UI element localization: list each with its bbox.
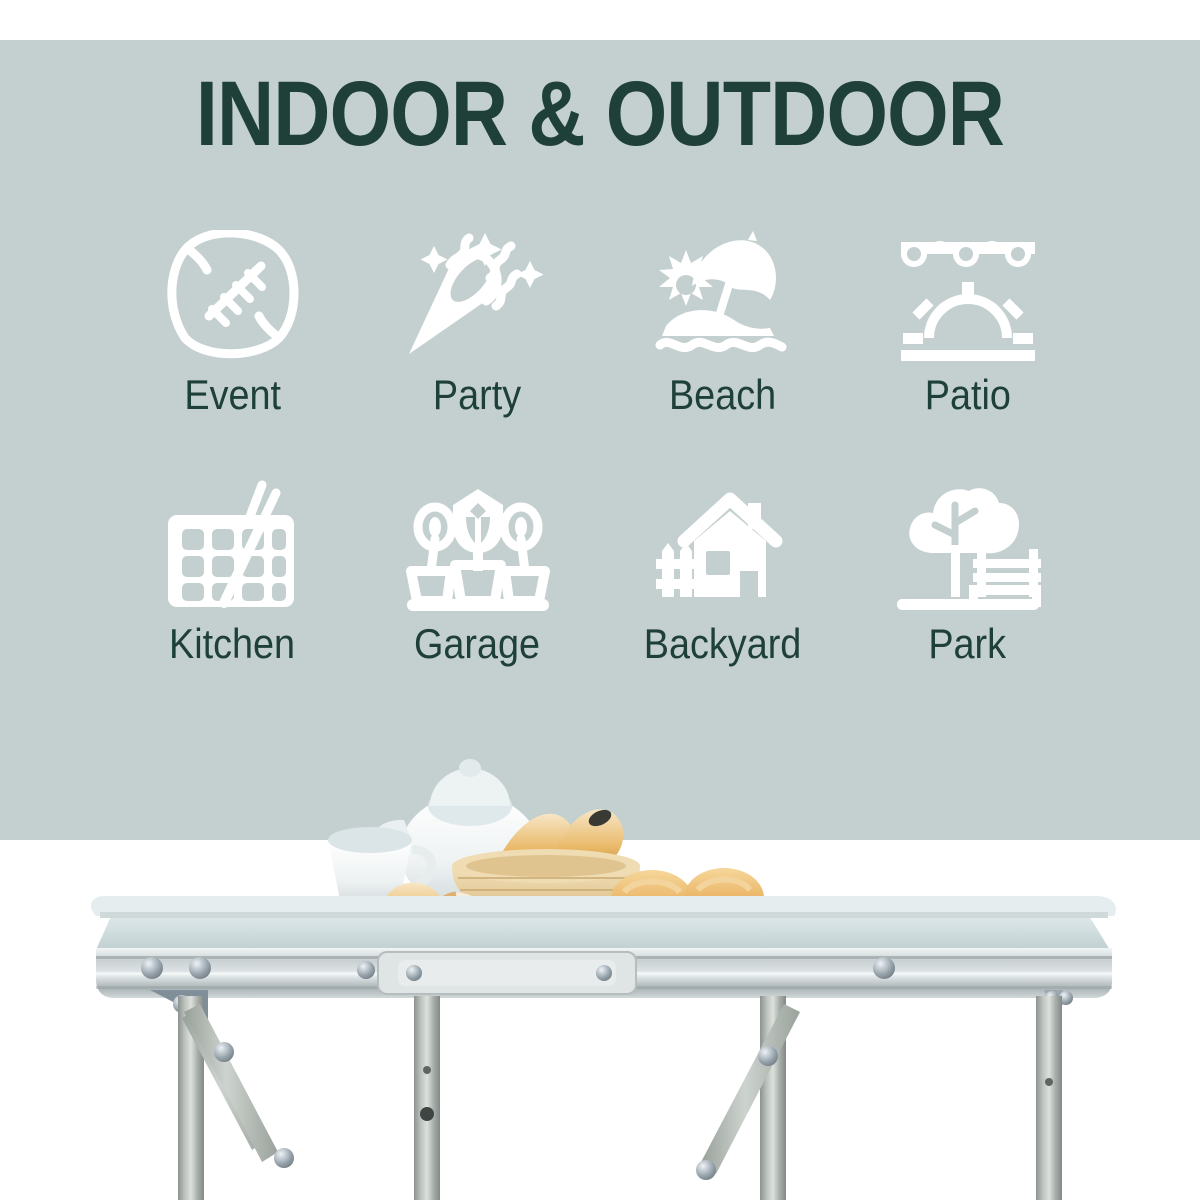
usecase-label: Event bbox=[184, 374, 281, 416]
usecase-item-garage[interactable]: Garage bbox=[355, 474, 600, 665]
usecase-row: Event bbox=[110, 220, 1090, 416]
kitchen-utensil-rack-icon bbox=[158, 474, 308, 619]
usecase-label: Beach bbox=[669, 374, 776, 416]
usecase-grid: Event bbox=[110, 220, 1090, 665]
beach-umbrella-icon bbox=[648, 220, 798, 370]
usecase-label: Patio bbox=[924, 374, 1010, 416]
usecase-label: Park bbox=[929, 623, 1007, 665]
page-title: INDOOR & OUTDOOR bbox=[84, 68, 1116, 160]
row-spacer bbox=[110, 416, 1090, 474]
usecase-label: Garage bbox=[414, 623, 540, 665]
usecase-row: Kitchen bbox=[110, 474, 1090, 665]
height-hole bbox=[1045, 1078, 1053, 1086]
usecase-item-patio[interactable]: Patio bbox=[845, 220, 1090, 416]
usecase-item-event[interactable]: Event bbox=[110, 220, 355, 416]
usecase-item-park[interactable]: Park bbox=[845, 474, 1090, 665]
table-hinge bbox=[378, 952, 636, 994]
potted-plants-icon bbox=[403, 474, 553, 619]
usecase-item-beach[interactable]: Beach bbox=[600, 220, 845, 416]
product-photo bbox=[0, 700, 1200, 1200]
tree-bench-icon bbox=[893, 474, 1043, 619]
football-icon bbox=[158, 220, 308, 370]
usecase-item-party[interactable]: Party bbox=[355, 220, 600, 416]
usecase-label: Kitchen bbox=[169, 623, 295, 665]
usecase-item-kitchen[interactable]: Kitchen bbox=[110, 474, 355, 665]
height-hole bbox=[420, 1107, 434, 1121]
height-hole bbox=[423, 1066, 431, 1074]
party-popper-icon bbox=[403, 220, 553, 370]
house-fence-icon bbox=[648, 474, 798, 619]
usecase-item-backyard[interactable]: Backyard bbox=[600, 474, 845, 665]
usecase-label: Backyard bbox=[644, 623, 802, 665]
table-top bbox=[91, 896, 1116, 950]
usecase-label: Party bbox=[433, 374, 521, 416]
patio-awning-sun-icon bbox=[893, 220, 1043, 370]
screenshot-root: INDOOR & OUTDOOR bbox=[0, 0, 1200, 1200]
